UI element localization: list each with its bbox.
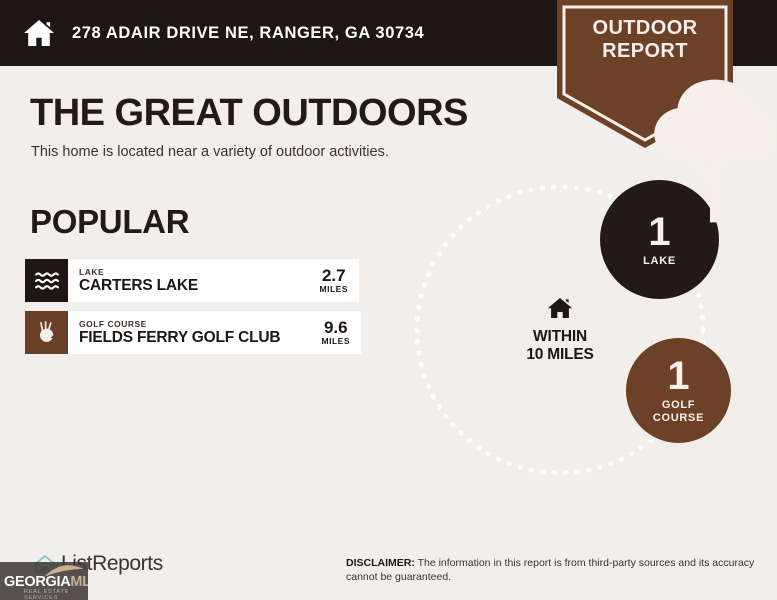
page-title: THE GREAT OUTDOORS (30, 92, 468, 135)
property-address: 278 ADAIR DRIVE NE, RANGER, GA 30734 (72, 24, 424, 43)
georgia-mls-watermark: GEORGIAMLS REAL ESTATE SERVICES (0, 562, 88, 600)
list-item-category: GOLF COURSE (79, 319, 280, 329)
bubble-label-line1: GOLF (662, 399, 695, 411)
bubble-label: GOLF COURSE (653, 399, 704, 425)
diagram-center-label: WITHIN 10 MILES (495, 296, 625, 364)
list-item-name: FIELDS FERRY GOLF CLUB (79, 329, 280, 346)
disclaimer: DISCLAIMER: The information in this repo… (346, 556, 766, 584)
bubble-label: LAKE (643, 255, 676, 268)
page-subtitle: This home is located near a variety of o… (31, 144, 389, 160)
mls-wordmark: GEORGIAMLS (4, 574, 88, 590)
list-item-distance: 2.7 MILES (318, 259, 359, 302)
bubble-label-line2: COURSE (653, 412, 704, 424)
home-icon (22, 16, 56, 50)
golf-glyph (35, 321, 59, 345)
distance-value: 2.7 (322, 267, 346, 284)
list-item[interactable]: LAKE CARTERS LAKE 2.7 MILES (25, 259, 359, 302)
golf-ball-tee-icon (25, 311, 68, 354)
bubble-golf-course: 1 GOLF COURSE (626, 338, 731, 443)
list-item-distance: 9.6 MILES (320, 311, 361, 354)
list-item-text: LAKE CARTERS LAKE (68, 259, 318, 302)
badge-title-line1: OUTDOOR (557, 17, 733, 40)
waves-glyph (34, 271, 60, 291)
list-item-name: CARTERS LAKE (79, 277, 198, 294)
list-item-category: LAKE (79, 267, 198, 277)
popular-list: LAKE CARTERS LAKE 2.7 MILES GOLF COURSE … (25, 259, 361, 363)
bubble-count: 1 (667, 356, 689, 396)
mls-wordmark-georgia: GEORGIA (4, 574, 70, 590)
list-item[interactable]: GOLF COURSE FIELDS FERRY GOLF CLUB 9.6 M… (25, 311, 361, 354)
home-icon (547, 296, 573, 320)
within-line1: WITHIN (495, 328, 625, 346)
mls-wordmark-mls: MLS (70, 574, 88, 590)
list-item-text: GOLF COURSE FIELDS FERRY GOLF CLUB (68, 311, 320, 354)
distance-unit: MILES (322, 336, 350, 347)
section-title-popular: POPULAR (30, 203, 189, 241)
disclaimer-label: DISCLAIMER: (346, 557, 415, 569)
distance-value: 9.6 (324, 319, 348, 336)
badge-title-line2: REPORT (557, 40, 733, 63)
mls-tagline: REAL ESTATE SERVICES (24, 589, 88, 600)
within-line2: 10 MILES (495, 346, 625, 364)
waves-icon (25, 259, 68, 302)
distance-unit: MILES (320, 284, 348, 295)
outdoor-report-badge: OUTDOOR REPORT (557, 0, 733, 150)
badge-title: OUTDOOR REPORT (557, 17, 733, 63)
tree-icon (627, 76, 777, 226)
